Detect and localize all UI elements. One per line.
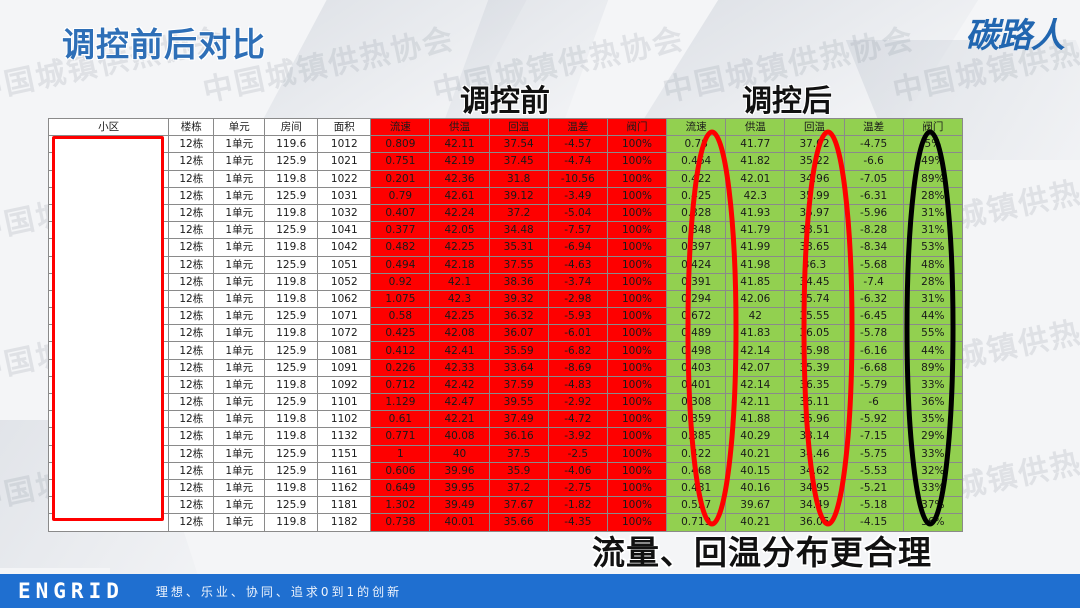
table-row: 12栋1单元119.810621.07542.339.32-2.98100%0.… (49, 290, 963, 307)
cell-after-supply: 41.93 (726, 204, 785, 221)
cell-building: 12栋 (169, 462, 214, 479)
cell-building: 12栋 (169, 222, 214, 239)
cell-unit: 1单元 (214, 290, 265, 307)
cell-before-valve: 100% (607, 239, 666, 256)
brand-logo: 碳路人 (965, 8, 1064, 57)
cell-area: 1051 (318, 256, 371, 273)
cell-after-supply: 41.99 (726, 239, 785, 256)
cell-unit: 1单元 (214, 222, 265, 239)
table-header-room: 房间 (265, 119, 318, 136)
table-row: 12栋1单元119.610120.80942.1137.54-4.57100%0… (49, 136, 963, 153)
cell-building: 12栋 (169, 308, 214, 325)
cell-building: 12栋 (169, 394, 214, 411)
cell-before-delta: -4.74 (548, 153, 607, 170)
cell-room: 125.9 (265, 153, 318, 170)
cell-after-flow: 0.308 (667, 394, 726, 411)
cell-after-delta: -7.15 (844, 428, 903, 445)
cell-after-supply: 41.77 (726, 136, 785, 153)
cell-after-flow: 0.403 (667, 359, 726, 376)
cell-before-flow: 0.425 (371, 325, 430, 342)
table-header-after-supply: 供温 (726, 119, 785, 136)
cell-after-supply: 42.3 (726, 187, 785, 204)
cell-after-return: 36.3 (785, 256, 844, 273)
cell-unit: 1单元 (214, 411, 265, 428)
cell-building: 12栋 (169, 445, 214, 462)
cell-area: 1012 (318, 136, 371, 153)
cell-after-valve: 31% (903, 222, 962, 239)
cell-before-delta: -4.83 (548, 376, 607, 393)
cell-before-valve: 100% (607, 497, 666, 514)
cell-room: 125.9 (265, 462, 318, 479)
cell-after-supply: 42.06 (726, 290, 785, 307)
cell-after-delta: -5.68 (844, 256, 903, 273)
cell-after-delta: -6.16 (844, 342, 903, 359)
cell-before-supply: 42.25 (430, 239, 489, 256)
cell-before-return: 31.8 (489, 170, 548, 187)
cell-after-supply: 41.82 (726, 153, 785, 170)
cell-room: 119.8 (265, 514, 318, 531)
cell-before-supply: 42.61 (430, 187, 489, 204)
cell-after-flow: 0.359 (667, 411, 726, 428)
cell-after-valve: 44% (903, 308, 962, 325)
cell-before-supply: 42.47 (430, 394, 489, 411)
cell-before-delta: -5.93 (548, 308, 607, 325)
table-row: 12栋1单元119.810320.40742.2437.2-5.04100%0.… (49, 204, 963, 221)
cell-before-flow: 0.412 (371, 342, 430, 359)
cell-unit: 1单元 (214, 462, 265, 479)
cell-unit: 1单元 (214, 239, 265, 256)
table-header-after-return: 回温 (785, 119, 844, 136)
cell-unit: 1单元 (214, 170, 265, 187)
cell-after-valve: 29% (903, 428, 962, 445)
cell-area: 1182 (318, 514, 371, 531)
cell-community (49, 308, 169, 325)
cell-building: 12栋 (169, 239, 214, 256)
footer-slogan: 理想、乐业、协同、追求0到1的创新 (156, 583, 402, 600)
cell-after-return: 35.39 (785, 359, 844, 376)
cell-after-supply: 40.15 (726, 462, 785, 479)
cell-after-valve: 49% (903, 153, 962, 170)
cell-community (49, 342, 169, 359)
cell-area: 1022 (318, 170, 371, 187)
cell-before-delta: -3.92 (548, 428, 607, 445)
cell-before-return: 39.32 (489, 290, 548, 307)
cell-after-flow: 0.294 (667, 290, 726, 307)
cell-before-flow: 0.649 (371, 479, 430, 496)
cell-before-valve: 100% (607, 187, 666, 204)
cell-before-return: 37.5 (489, 445, 548, 462)
cell-after-valve: 89% (903, 359, 962, 376)
cell-after-delta: -6.68 (844, 359, 903, 376)
cell-community (49, 359, 169, 376)
cell-building: 12栋 (169, 411, 214, 428)
cell-community (49, 136, 169, 153)
cell-before-supply: 42.42 (430, 376, 489, 393)
cell-room: 125.9 (265, 222, 318, 239)
cell-building: 12栋 (169, 497, 214, 514)
table-row: 12栋1单元119.810920.71242.4237.59-4.83100%0… (49, 376, 963, 393)
cell-before-delta: -3.49 (548, 187, 607, 204)
table-header-building: 楼栋 (169, 119, 214, 136)
cell-before-return: 37.54 (489, 136, 548, 153)
cell-before-valve: 100% (607, 256, 666, 273)
comparison-table: 小区楼栋单元房间面积流速供温回温温差阀门流速供温回温温差阀门 12栋1单元119… (48, 118, 963, 532)
cell-after-flow: 0.348 (667, 222, 726, 239)
cell-after-delta: -8.34 (844, 239, 903, 256)
cell-room: 119.8 (265, 428, 318, 445)
cell-after-return: 37.02 (785, 136, 844, 153)
table-row: 12栋1单元125.910210.75142.1937.45-4.74100%0… (49, 153, 963, 170)
cell-before-return: 35.9 (489, 462, 548, 479)
cell-before-flow: 0.226 (371, 359, 430, 376)
table-row: 12栋1单元119.810420.48242.2535.31-6.94100%0… (49, 239, 963, 256)
cell-after-supply: 40.29 (726, 428, 785, 445)
cell-building: 12栋 (169, 204, 214, 221)
cell-before-delta: -2.75 (548, 479, 607, 496)
cell-before-return: 37.59 (489, 376, 548, 393)
cell-after-valve: 33% (903, 376, 962, 393)
cell-after-flow: 0.672 (667, 308, 726, 325)
cell-after-flow: 0.385 (667, 428, 726, 445)
cell-after-supply: 42.11 (726, 394, 785, 411)
cell-community (49, 428, 169, 445)
cell-before-return: 34.48 (489, 222, 548, 239)
cell-building: 12栋 (169, 514, 214, 531)
cell-room: 119.8 (265, 376, 318, 393)
cell-community (49, 479, 169, 496)
cell-before-valve: 100% (607, 273, 666, 290)
cell-before-valve: 100% (607, 479, 666, 496)
table-header-before-valve: 阀门 (607, 119, 666, 136)
cell-after-return: 34.45 (785, 273, 844, 290)
cell-before-valve: 100% (607, 222, 666, 239)
cell-before-supply: 42.05 (430, 222, 489, 239)
cell-after-return: 33.14 (785, 428, 844, 445)
cell-before-valve: 100% (607, 136, 666, 153)
table-row: 12栋1单元125.911811.30239.4937.67-1.82100%0… (49, 497, 963, 514)
cell-after-return: 33.65 (785, 239, 844, 256)
cell-after-supply: 41.79 (726, 222, 785, 239)
table-header: 小区楼栋单元房间面积流速供温回温温差阀门流速供温回温温差阀门 (49, 119, 963, 136)
cell-after-supply: 42.01 (726, 170, 785, 187)
cell-area: 1151 (318, 445, 371, 462)
cell-unit: 1单元 (214, 187, 265, 204)
cell-building: 12栋 (169, 170, 214, 187)
cell-after-delta: -4.75 (844, 136, 903, 153)
cell-before-return: 36.32 (489, 308, 548, 325)
cell-before-supply: 40.08 (430, 428, 489, 445)
table-row: 12栋1单元119.811620.64939.9537.2-2.75100%0.… (49, 479, 963, 496)
cell-after-valve: 37% (903, 497, 962, 514)
cell-after-valve: 28% (903, 187, 962, 204)
cell-before-delta: -4.57 (548, 136, 607, 153)
cell-before-valve: 100% (607, 394, 666, 411)
cell-after-delta: -6.31 (844, 187, 903, 204)
cell-before-supply: 39.49 (430, 497, 489, 514)
cell-after-supply: 40.16 (726, 479, 785, 496)
cell-before-delta: -8.69 (548, 359, 607, 376)
cell-community (49, 497, 169, 514)
cell-after-flow: 0.527 (667, 497, 726, 514)
cell-building: 12栋 (169, 256, 214, 273)
cell-before-flow: 0.809 (371, 136, 430, 153)
cell-community (49, 204, 169, 221)
cell-after-return: 35.74 (785, 290, 844, 307)
cell-after-flow: 0.391 (667, 273, 726, 290)
cell-room: 119.8 (265, 290, 318, 307)
cell-before-valve: 100% (607, 170, 666, 187)
cell-after-flow: 0.489 (667, 325, 726, 342)
table-header-after-valve: 阀门 (903, 119, 962, 136)
cell-unit: 1单元 (214, 359, 265, 376)
cell-after-valve: 89% (903, 170, 962, 187)
cell-area: 1041 (318, 222, 371, 239)
table-row: 12栋1单元125.911610.60639.9635.9-4.06100%0.… (49, 462, 963, 479)
cell-before-return: 33.64 (489, 359, 548, 376)
cell-community (49, 273, 169, 290)
cell-unit: 1单元 (214, 497, 265, 514)
cell-unit: 1单元 (214, 342, 265, 359)
cell-after-valve: 33% (903, 445, 962, 462)
cell-after-supply: 39.67 (726, 497, 785, 514)
cell-before-valve: 100% (607, 204, 666, 221)
cell-unit: 1单元 (214, 136, 265, 153)
cell-after-return: 35.22 (785, 153, 844, 170)
cell-before-supply: 40.01 (430, 514, 489, 531)
cell-after-delta: -5.78 (844, 325, 903, 342)
cell-before-flow: 0.482 (371, 239, 430, 256)
cell-after-return: 34.95 (785, 479, 844, 496)
cell-after-flow: 0.401 (667, 376, 726, 393)
cell-after-return: 34.96 (785, 170, 844, 187)
cell-area: 1052 (318, 273, 371, 290)
cell-community (49, 376, 169, 393)
table-body: 12栋1单元119.610120.80942.1137.54-4.57100%0… (49, 136, 963, 531)
cell-after-supply: 41.85 (726, 273, 785, 290)
cell-after-delta: -5.18 (844, 497, 903, 514)
cell-before-return: 39.55 (489, 394, 548, 411)
table-header-community: 小区 (49, 119, 169, 136)
cell-after-return: 34.49 (785, 497, 844, 514)
cell-before-supply: 42.3 (430, 290, 489, 307)
cell-before-delta: -6.82 (548, 342, 607, 359)
cell-area: 1181 (318, 497, 371, 514)
cell-after-valve: 28% (903, 273, 962, 290)
cell-after-return: 35.96 (785, 411, 844, 428)
cell-before-return: 37.67 (489, 497, 548, 514)
cell-before-supply: 42.11 (430, 136, 489, 153)
cell-unit: 1单元 (214, 256, 265, 273)
cell-after-flow: 0.424 (667, 256, 726, 273)
cell-after-valve: 55% (903, 325, 962, 342)
cell-unit: 1单元 (214, 204, 265, 221)
cell-room: 119.8 (265, 479, 318, 496)
cell-before-return: 37.55 (489, 256, 548, 273)
cell-unit: 1单元 (214, 479, 265, 496)
cell-area: 1031 (318, 187, 371, 204)
cell-unit: 1单元 (214, 376, 265, 393)
cell-area: 1091 (318, 359, 371, 376)
cell-before-valve: 100% (607, 411, 666, 428)
cell-community (49, 290, 169, 307)
cell-before-delta: -1.82 (548, 497, 607, 514)
cell-before-valve: 100% (607, 445, 666, 462)
cell-community (49, 153, 169, 170)
footer-logo: ENGRID (18, 579, 124, 603)
cell-before-return: 37.45 (489, 153, 548, 170)
cell-area: 1102 (318, 411, 371, 428)
table-row: 12栋1单元125.910510.49442.1837.55-4.63100%0… (49, 256, 963, 273)
cell-after-flow: 0.425 (667, 187, 726, 204)
table-header-before-return: 回温 (489, 119, 548, 136)
cell-before-delta: -2.98 (548, 290, 607, 307)
cell-before-flow: 0.407 (371, 204, 430, 221)
cell-area: 1161 (318, 462, 371, 479)
cell-before-delta: -7.57 (548, 222, 607, 239)
cell-after-return: 34.46 (785, 445, 844, 462)
cell-room: 125.9 (265, 342, 318, 359)
cell-before-return: 37.49 (489, 411, 548, 428)
cell-before-delta: -3.74 (548, 273, 607, 290)
cell-before-supply: 42.33 (430, 359, 489, 376)
cell-community (49, 222, 169, 239)
cell-area: 1081 (318, 342, 371, 359)
footer-notch (0, 568, 110, 574)
cell-room: 125.9 (265, 394, 318, 411)
cell-before-flow: 0.201 (371, 170, 430, 187)
section-caption-after: 调控后 (742, 76, 832, 120)
cell-before-valve: 100% (607, 376, 666, 393)
cell-after-valve: 5% (903, 136, 962, 153)
cell-after-return: 36.11 (785, 394, 844, 411)
cell-room: 119.8 (265, 273, 318, 290)
cell-unit: 1单元 (214, 394, 265, 411)
table-header-before-delta: 温差 (548, 119, 607, 136)
cell-before-delta: -10.56 (548, 170, 607, 187)
cell-building: 12栋 (169, 136, 214, 153)
cell-community (49, 394, 169, 411)
cell-room: 119.8 (265, 204, 318, 221)
cell-building: 12栋 (169, 325, 214, 342)
cell-unit: 1单元 (214, 153, 265, 170)
cell-before-supply: 42.36 (430, 170, 489, 187)
cell-room: 125.9 (265, 308, 318, 325)
cell-before-delta: -2.92 (548, 394, 607, 411)
cell-community (49, 239, 169, 256)
cell-after-delta: -7.05 (844, 170, 903, 187)
cell-after-valve: 32% (903, 462, 962, 479)
cell-unit: 1单元 (214, 445, 265, 462)
cell-before-delta: -6.01 (548, 325, 607, 342)
cell-unit: 1单元 (214, 325, 265, 342)
cell-area: 1072 (318, 325, 371, 342)
cell-after-flow: 0.328 (667, 204, 726, 221)
cell-before-flow: 1.075 (371, 290, 430, 307)
cell-after-return: 34.62 (785, 462, 844, 479)
cell-after-flow: 0.468 (667, 462, 726, 479)
cell-after-valve: 44% (903, 342, 962, 359)
cell-after-supply: 41.88 (726, 411, 785, 428)
table-header-after-delta: 温差 (844, 119, 903, 136)
cell-before-flow: 1.129 (371, 394, 430, 411)
cell-after-return: 35.98 (785, 342, 844, 359)
cell-before-supply: 42.1 (430, 273, 489, 290)
cell-after-valve: 36% (903, 394, 962, 411)
table-row: 12栋1单元125.910310.7942.6139.12-3.49100%0.… (49, 187, 963, 204)
cell-room: 125.9 (265, 187, 318, 204)
cell-after-return: 35.97 (785, 204, 844, 221)
cell-building: 12栋 (169, 342, 214, 359)
cell-after-delta: -5.92 (844, 411, 903, 428)
cell-community (49, 170, 169, 187)
cell-community (49, 445, 169, 462)
cell-area: 1021 (318, 153, 371, 170)
cell-before-delta: -4.72 (548, 411, 607, 428)
cell-after-delta: -6.45 (844, 308, 903, 325)
cell-before-supply: 42.25 (430, 308, 489, 325)
cell-before-flow: 0.377 (371, 222, 430, 239)
cell-before-return: 36.16 (489, 428, 548, 445)
cell-before-return: 39.12 (489, 187, 548, 204)
table-row: 12栋1单元125.910810.41242.4135.59-6.82100%0… (49, 342, 963, 359)
cell-area: 1101 (318, 394, 371, 411)
cell-building: 12栋 (169, 290, 214, 307)
cell-after-supply: 40.21 (726, 445, 785, 462)
cell-before-valve: 100% (607, 428, 666, 445)
table-row: 12栋1单元119.811020.6142.2137.49-4.72100%0.… (49, 411, 963, 428)
cell-before-flow: 0.92 (371, 273, 430, 290)
cell-after-delta: -5.21 (844, 479, 903, 496)
cell-before-supply: 42.18 (430, 256, 489, 273)
comparison-table-wrapper: 小区楼栋单元房间面积流速供温回温温差阀门流速供温回温温差阀门 12栋1单元119… (48, 118, 963, 532)
table-row: 12栋1单元125.9115114037.5-2.5100%0.42240.21… (49, 445, 963, 462)
table-row: 12栋1单元119.810220.20142.3631.8-10.56100%0… (49, 170, 963, 187)
cell-after-supply: 42.14 (726, 376, 785, 393)
cell-before-return: 37.2 (489, 204, 548, 221)
cell-before-return: 38.36 (489, 273, 548, 290)
cell-after-delta: -5.96 (844, 204, 903, 221)
cell-before-delta: -4.63 (548, 256, 607, 273)
cell-before-valve: 100% (607, 325, 666, 342)
table-row: 12栋1单元125.911011.12942.4739.55-2.92100%0… (49, 394, 963, 411)
cell-after-supply: 42 (726, 308, 785, 325)
table-header-after-flow: 流速 (667, 119, 726, 136)
cell-before-return: 35.31 (489, 239, 548, 256)
cell-room: 125.9 (265, 256, 318, 273)
table-header-before-supply: 供温 (430, 119, 489, 136)
cell-room: 125.9 (265, 497, 318, 514)
cell-after-flow: 0.422 (667, 170, 726, 187)
cell-community (49, 462, 169, 479)
cell-after-flow: 0.498 (667, 342, 726, 359)
cell-before-flow: 0.712 (371, 376, 430, 393)
cell-after-return: 35.55 (785, 308, 844, 325)
cell-after-valve: 48% (903, 256, 962, 273)
cell-before-delta: -6.94 (548, 239, 607, 256)
cell-before-supply: 42.19 (430, 153, 489, 170)
cell-before-delta: -2.5 (548, 445, 607, 462)
cell-before-valve: 100% (607, 342, 666, 359)
cell-after-delta: -6 (844, 394, 903, 411)
cell-before-valve: 100% (607, 359, 666, 376)
table-row: 12栋1单元119.810720.42542.0836.07-6.01100%0… (49, 325, 963, 342)
cell-area: 1071 (318, 308, 371, 325)
cell-after-valve: 31% (903, 290, 962, 307)
table-header-unit: 单元 (214, 119, 265, 136)
cell-after-delta: -8.28 (844, 222, 903, 239)
bottom-caption: 流量、回温分布更合理 (592, 526, 932, 574)
table-row: 12栋1单元125.910410.37742.0534.48-7.57100%0… (49, 222, 963, 239)
